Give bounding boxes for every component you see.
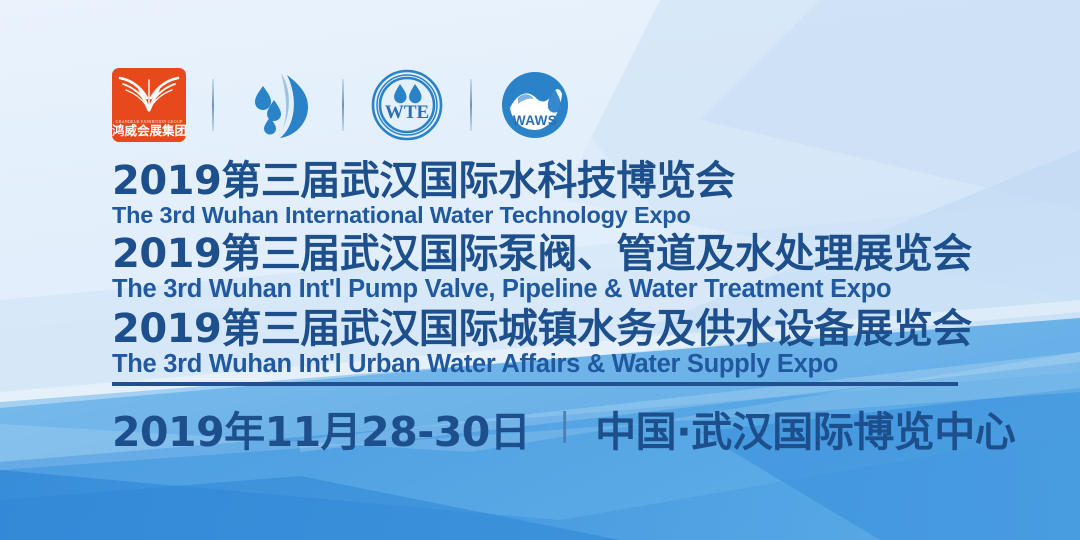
event-venue: 中国·武汉国际博览中心 bbox=[595, 398, 1015, 458]
event-details-separator: | bbox=[560, 408, 569, 442]
title-1-english: The 3rd Wuhan International Water Techno… bbox=[112, 203, 972, 228]
title-3-chinese: 2019第三届武汉国际城镇水务及供水设备展览会 bbox=[112, 308, 972, 350]
wte-badge-icon: WTE bbox=[370, 68, 444, 142]
title-3-english: The 3rd Wuhan Int'l Urban Water Affairs … bbox=[112, 351, 972, 379]
title-group-pump-valve: 2019第三届武汉国际泵阀、管道及水处理展览会 The 3rd Wuhan In… bbox=[112, 233, 972, 304]
logo-divider-2 bbox=[342, 79, 344, 131]
logo-waws[interactable]: WAWS bbox=[498, 68, 572, 142]
event-date: 2019年11月28-30日 bbox=[112, 398, 530, 458]
wte-badge-text: WTE bbox=[385, 102, 429, 123]
title-group-water-technology: 2019第三届武汉国际水科技博览会 The 3rd Wuhan Internat… bbox=[112, 160, 972, 229]
event-details-line: 2019年11月28-30日 | 中国·武汉国际博览中心 bbox=[112, 398, 1015, 458]
water-droplet-circle-icon bbox=[240, 67, 316, 143]
expo-title-block: 2019第三届武汉国际水科技博览会 The 3rd Wuhan Internat… bbox=[112, 160, 972, 383]
title-2-chinese: 2019第三届武汉国际泵阀、管道及水处理展览会 bbox=[112, 233, 972, 275]
title-2-english: The 3rd Wuhan Int'l Pump Valve, Pipeline… bbox=[112, 276, 972, 304]
grandeur-logo-mark: GRANDEUR EXHIBITION GROUP 鸿威会展集团 bbox=[112, 68, 186, 142]
title-1-chinese: 2019第三届武汉国际水科技博览会 bbox=[112, 160, 972, 202]
horizontal-rule bbox=[112, 382, 958, 386]
waws-badge-icon: WAWS bbox=[498, 68, 572, 142]
logo-grandeur-exhibition-group[interactable]: GRANDEUR EXHIBITION GROUP 鸿威会展集团 bbox=[112, 68, 186, 142]
winged-w-icon bbox=[112, 68, 186, 116]
organizer-logo-row: GRANDEUR EXHIBITION GROUP 鸿威会展集团 bbox=[112, 66, 572, 144]
event-banner: GRANDEUR EXHIBITION GROUP 鸿威会展集团 bbox=[0, 0, 1080, 540]
logo-divider-3 bbox=[470, 79, 472, 131]
title-group-urban-water: 2019第三届武汉国际城镇水务及供水设备展览会 The 3rd Wuhan In… bbox=[112, 308, 972, 379]
logo-water-droplet-circle[interactable] bbox=[240, 67, 316, 143]
logo-divider-1 bbox=[212, 79, 214, 131]
waws-badge-text: WAWS bbox=[513, 113, 557, 128]
logo-wte[interactable]: WTE bbox=[370, 68, 444, 142]
grandeur-logo-chinese: 鸿威会展集团 bbox=[112, 120, 186, 139]
